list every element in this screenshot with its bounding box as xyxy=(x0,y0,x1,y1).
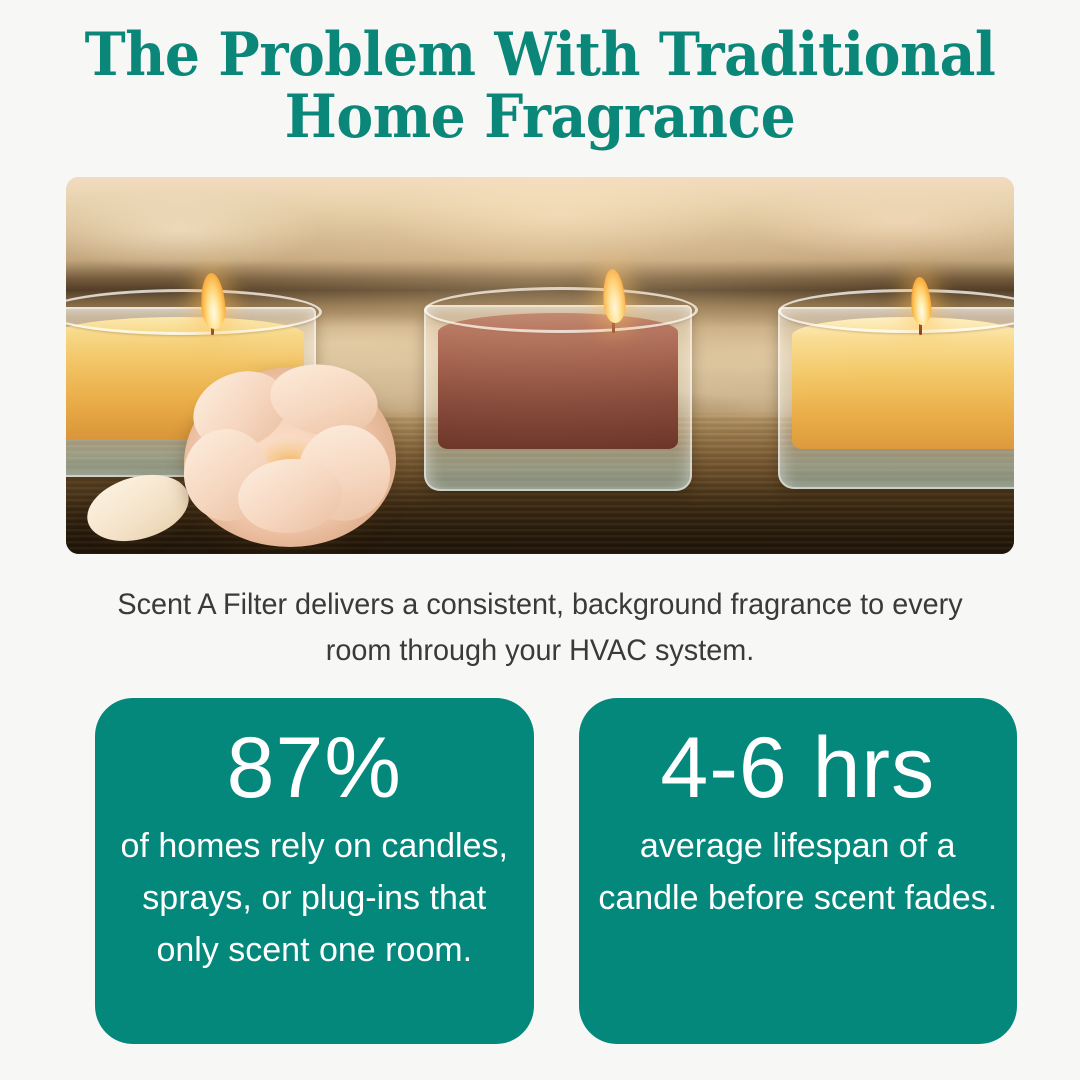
stat-label-homes: of homes rely on candles, sprays, or plu… xyxy=(113,820,516,976)
page-title: The Problem With Traditional Home Fragra… xyxy=(0,24,1080,148)
photo-warm-glow xyxy=(66,177,1014,554)
stat-value-homes: 87% xyxy=(227,720,402,816)
stat-value-lifespan: 4-6 hrs xyxy=(660,720,935,816)
stat-label-lifespan: average lifespan of a candle before scen… xyxy=(597,820,1000,924)
stat-card-homes: 87% of homes rely on candles, sprays, or… xyxy=(95,698,534,1044)
stat-card-lifespan: 4-6 hrs average lifespan of a candle bef… xyxy=(579,698,1018,1044)
stat-card-group: 87% of homes rely on candles, sprays, or… xyxy=(95,698,1017,1044)
page-title-line-2: Home Fragrance xyxy=(43,86,1037,148)
hero-candle-photo xyxy=(66,177,1014,554)
page-title-line-1: The Problem With Traditional xyxy=(43,24,1037,86)
caption-text: Scent A Filter delivers a consistent, ba… xyxy=(89,582,991,674)
